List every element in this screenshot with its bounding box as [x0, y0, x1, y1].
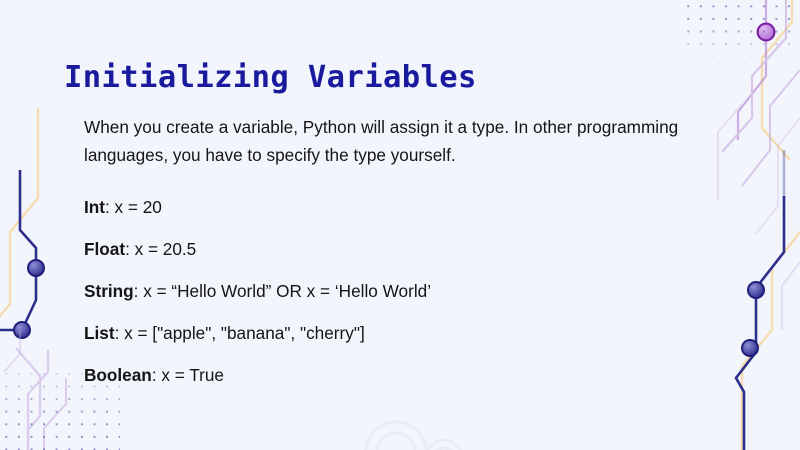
- type-label-list: List: [84, 323, 115, 343]
- type-value-float: : x = 20.5: [125, 239, 196, 259]
- type-label-string: String: [84, 281, 134, 301]
- type-value-list: : x = ["apple", "banana", "cherry"]: [115, 323, 365, 343]
- page-title: Initializing Variables: [64, 60, 477, 95]
- slide-content: Initializing Variables When you create a…: [0, 0, 800, 450]
- type-label-int: Int: [84, 197, 105, 217]
- list-item: Boolean: x = True: [84, 364, 744, 386]
- type-value-int: : x = 20: [105, 197, 162, 217]
- list-item: Int: x = 20: [84, 196, 744, 218]
- type-label-boolean: Boolean: [84, 365, 152, 385]
- list-item: Float: x = 20.5: [84, 238, 744, 260]
- slide-canvas: Initializing Variables When you create a…: [0, 0, 800, 450]
- type-value-string: : x = “Hello World” OR x = ‘Hello World’: [134, 281, 431, 301]
- type-value-boolean: : x = True: [152, 365, 224, 385]
- body-paragraph: When you create a variable, Python will …: [84, 113, 724, 169]
- list-item: List: x = ["apple", "banana", "cherry"]: [84, 322, 744, 344]
- list-item: String: x = “Hello World” OR x = ‘Hello …: [84, 280, 744, 302]
- type-label-float: Float: [84, 239, 125, 259]
- variable-type-list: Int: x = 20 Float: x = 20.5 String: x = …: [84, 196, 744, 386]
